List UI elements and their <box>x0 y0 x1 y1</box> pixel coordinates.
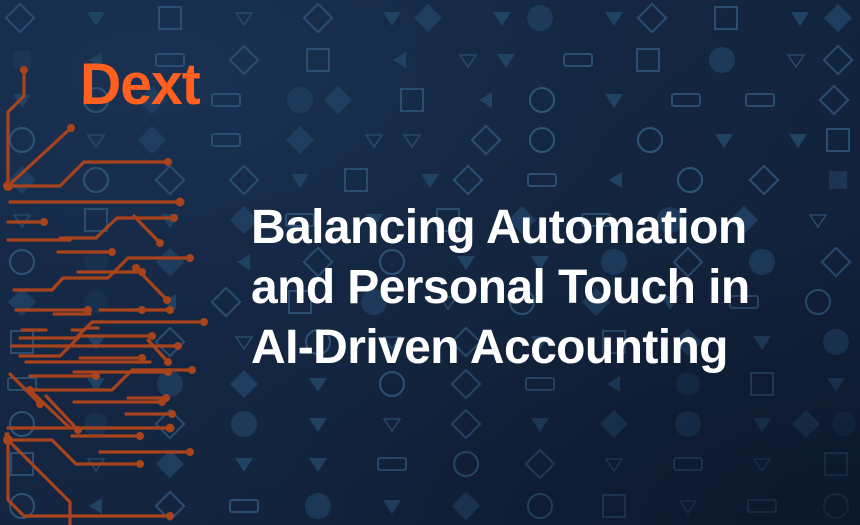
headline-line-2: and Personal Touch in <box>251 258 791 318</box>
headline-line-1: Balancing Automation <box>251 198 791 258</box>
dext-logo-text: Dext <box>80 53 200 114</box>
page-title: Balancing Automation and Personal Touch … <box>251 198 791 378</box>
dext-logo: Dext <box>80 52 200 114</box>
headline-line-3: AI-Driven Accounting <box>251 318 791 378</box>
hero-banner: Dext Balancing Automation and Personal T… <box>0 0 860 525</box>
